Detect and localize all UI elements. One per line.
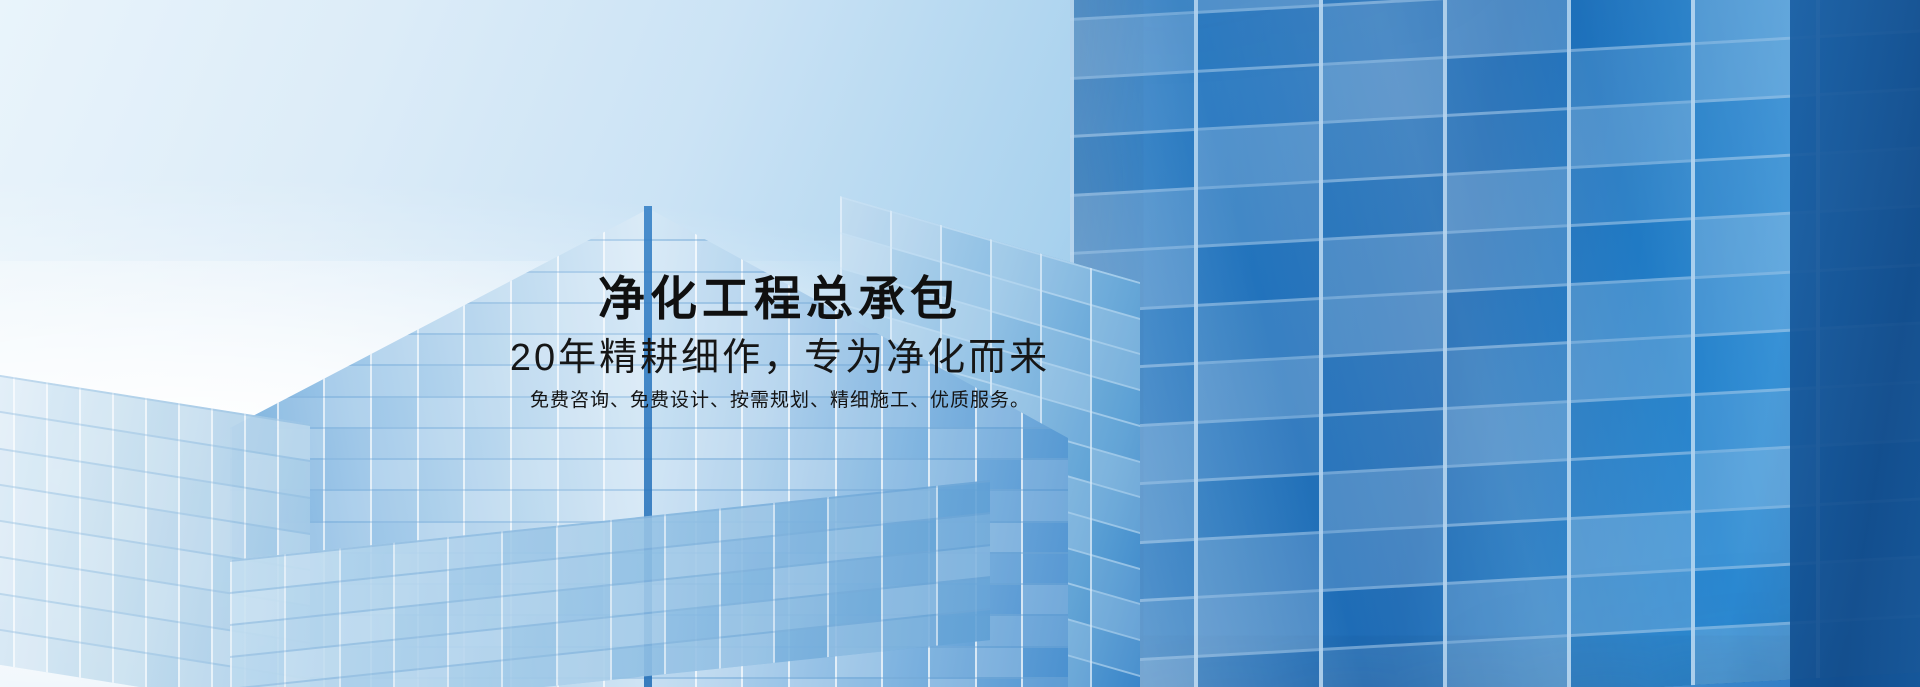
window-pane [286, 551, 338, 586]
window-pane [0, 483, 13, 522]
window-pane [790, 429, 835, 458]
window-pane [449, 533, 501, 568]
window-pane [938, 514, 990, 549]
window-pane [883, 584, 935, 619]
window-pane [48, 530, 79, 569]
window-pane [341, 641, 393, 676]
window-pane [147, 473, 178, 512]
window-pane [465, 491, 510, 520]
window-pane [232, 620, 284, 655]
window-pane [977, 648, 1022, 677]
window-pane [790, 679, 835, 687]
window-pane [341, 577, 393, 612]
window-pane [559, 460, 604, 489]
window-pane [666, 511, 718, 546]
window-pane [697, 429, 742, 458]
window-pane [15, 561, 46, 600]
window-pane [147, 654, 178, 687]
window-pane [558, 522, 610, 557]
window-pane [650, 429, 695, 458]
window-pane [558, 650, 610, 685]
window-pane [558, 618, 610, 653]
window-pane [930, 429, 975, 458]
window-pane [612, 548, 664, 583]
window-pane [883, 488, 935, 523]
window-pane [114, 576, 145, 615]
window-pane [666, 543, 718, 578]
window-pane [1023, 679, 1068, 687]
window-pane [325, 491, 370, 520]
window-pane [883, 616, 935, 651]
window-pane [279, 494, 310, 533]
window-pane [938, 578, 990, 613]
window-pane [883, 552, 935, 587]
window-pane [246, 416, 277, 455]
window-pane [503, 624, 555, 659]
window-pane [650, 679, 695, 687]
window-pane [721, 569, 773, 604]
window-pane [612, 580, 664, 615]
window-pane [0, 628, 13, 667]
window-pane [697, 679, 742, 687]
window-pane [612, 516, 664, 551]
window-pane [341, 609, 393, 644]
window-pane [1023, 491, 1068, 520]
window-pane [449, 597, 501, 632]
window-pane [48, 493, 79, 532]
window-pane [883, 679, 928, 687]
window-pane [395, 635, 447, 670]
window-pane [395, 539, 447, 574]
window-pane [721, 601, 773, 636]
window-pane [114, 431, 145, 470]
window-pane [775, 595, 827, 630]
window-pane [1023, 554, 1068, 583]
window-pane [48, 457, 79, 496]
window-pane [325, 429, 370, 458]
window-pane [465, 429, 510, 458]
window-pane [0, 555, 13, 594]
window-pane [503, 528, 555, 563]
window-pane [81, 498, 112, 537]
window-pane [829, 526, 881, 561]
window-pane [81, 607, 112, 646]
window-pane [15, 633, 46, 672]
window-pane [558, 554, 610, 589]
window-pane [180, 514, 211, 553]
window-pane [372, 429, 417, 458]
window-pane [48, 638, 79, 677]
window-pane [559, 491, 604, 520]
window-pane [180, 478, 211, 517]
window-pane [48, 421, 79, 460]
window-pane [325, 460, 370, 489]
window-pane [612, 644, 664, 679]
window-pane [503, 560, 555, 595]
window-pane [0, 592, 13, 631]
window-pane [829, 494, 881, 529]
window-pane [372, 491, 417, 520]
window-pane [372, 460, 417, 489]
window-pane [147, 509, 178, 548]
window-pane [449, 565, 501, 600]
window-pane [449, 661, 501, 687]
window-pane [81, 535, 112, 574]
window-pane [977, 679, 1022, 687]
window-pane [612, 612, 664, 647]
window-pane [286, 583, 338, 618]
window-pane [341, 545, 393, 580]
window-pane [180, 550, 211, 589]
window-pane [1023, 585, 1068, 614]
window-pane [114, 540, 145, 579]
window-pane [114, 467, 145, 506]
window-pane [449, 629, 501, 664]
window-pane [15, 452, 46, 491]
window-pane [419, 429, 464, 458]
window-pane [938, 610, 990, 645]
window-pane [930, 679, 975, 687]
window-pane [180, 442, 211, 481]
window-pane [180, 587, 211, 626]
window-pane [114, 612, 145, 651]
window-pane [0, 519, 13, 558]
window-pane [666, 575, 718, 610]
window-pane [213, 447, 244, 486]
window-pane [666, 607, 718, 642]
window-pane [286, 615, 338, 650]
window-pane [419, 460, 464, 489]
window-pane [721, 633, 773, 668]
window-pane [114, 504, 145, 543]
window-pane [147, 618, 178, 657]
window-pane [81, 462, 112, 501]
window-pane [666, 639, 718, 674]
window-pane [930, 648, 975, 677]
window-pane [938, 482, 990, 517]
banner-copy: 净化工程总承包 20年精耕细作，专为净化而来 免费咨询、免费设计、按需规划、精细… [0, 272, 1560, 414]
window-pane [48, 566, 79, 605]
window-pane [558, 586, 610, 621]
banner-headline: 净化工程总承包 [0, 272, 1560, 328]
banner-subheadline: 20年精耕细作，专为净化而来 [0, 334, 1560, 382]
window-pane [81, 571, 112, 610]
window-pane [512, 491, 557, 520]
window-pane [829, 590, 881, 625]
window-pane [279, 421, 310, 460]
window-pane [721, 505, 773, 540]
window-pane [829, 622, 881, 657]
window-pane [465, 460, 510, 489]
window-pane [883, 429, 928, 458]
window-pane [775, 627, 827, 662]
window-pane [503, 656, 555, 687]
right-tower-side-slab [1790, 0, 1920, 687]
window-pane [147, 545, 178, 584]
window-pane [81, 643, 112, 682]
window-pane [246, 452, 277, 491]
window-pane [81, 426, 112, 465]
window-pane [15, 416, 46, 455]
window-pane [775, 563, 827, 598]
window-pane [286, 647, 338, 682]
window-pane [743, 460, 788, 489]
hero-banner: 净化工程总承包 20年精耕细作，专为净化而来 免费咨询、免费设计、按需规划、精细… [0, 0, 1920, 687]
window-pane [837, 429, 882, 458]
window-pane [232, 556, 284, 591]
window-pane [512, 460, 557, 489]
window-pane [147, 581, 178, 620]
window-pane [48, 602, 79, 641]
window-pane [213, 483, 244, 522]
window-pane [232, 652, 284, 687]
window-pane [977, 429, 1022, 458]
window-pane [503, 592, 555, 627]
banner-tagline: 免费咨询、免费设计、按需规划、精细施工、优质服务。 [0, 388, 1560, 414]
window-pane [883, 520, 935, 555]
window-pane [0, 410, 13, 449]
window-pane [15, 488, 46, 527]
window-pane [775, 499, 827, 534]
window-pane [1023, 460, 1068, 489]
window-pane [114, 649, 145, 687]
window-pane [15, 597, 46, 636]
window-pane [213, 411, 244, 450]
window-pane [837, 460, 882, 489]
window-pane [147, 436, 178, 475]
window-pane [1023, 616, 1068, 645]
window-pane [883, 648, 928, 677]
window-pane [0, 447, 13, 486]
window-pane [15, 524, 46, 563]
window-pane [1023, 648, 1068, 677]
window-pane [938, 546, 990, 581]
window-pane [775, 531, 827, 566]
window-pane [743, 679, 788, 687]
window-pane [395, 571, 447, 606]
window-pane [721, 537, 773, 572]
window-pane [650, 241, 695, 270]
window-pane [837, 679, 882, 687]
window-pane [419, 491, 464, 520]
window-pane [1023, 523, 1068, 552]
window-pane [883, 460, 928, 489]
window-pane [180, 659, 211, 687]
window-pane [213, 519, 244, 558]
window-pane [512, 429, 557, 458]
window-pane [559, 429, 604, 458]
window-pane [829, 558, 881, 593]
window-pane [743, 429, 788, 458]
window-pane [395, 603, 447, 638]
window-pane [246, 488, 277, 527]
window-pane [279, 457, 310, 496]
window-pane [180, 623, 211, 662]
window-pane [790, 460, 835, 489]
window-pane [232, 588, 284, 623]
window-pane [650, 460, 695, 489]
window-pane [697, 460, 742, 489]
